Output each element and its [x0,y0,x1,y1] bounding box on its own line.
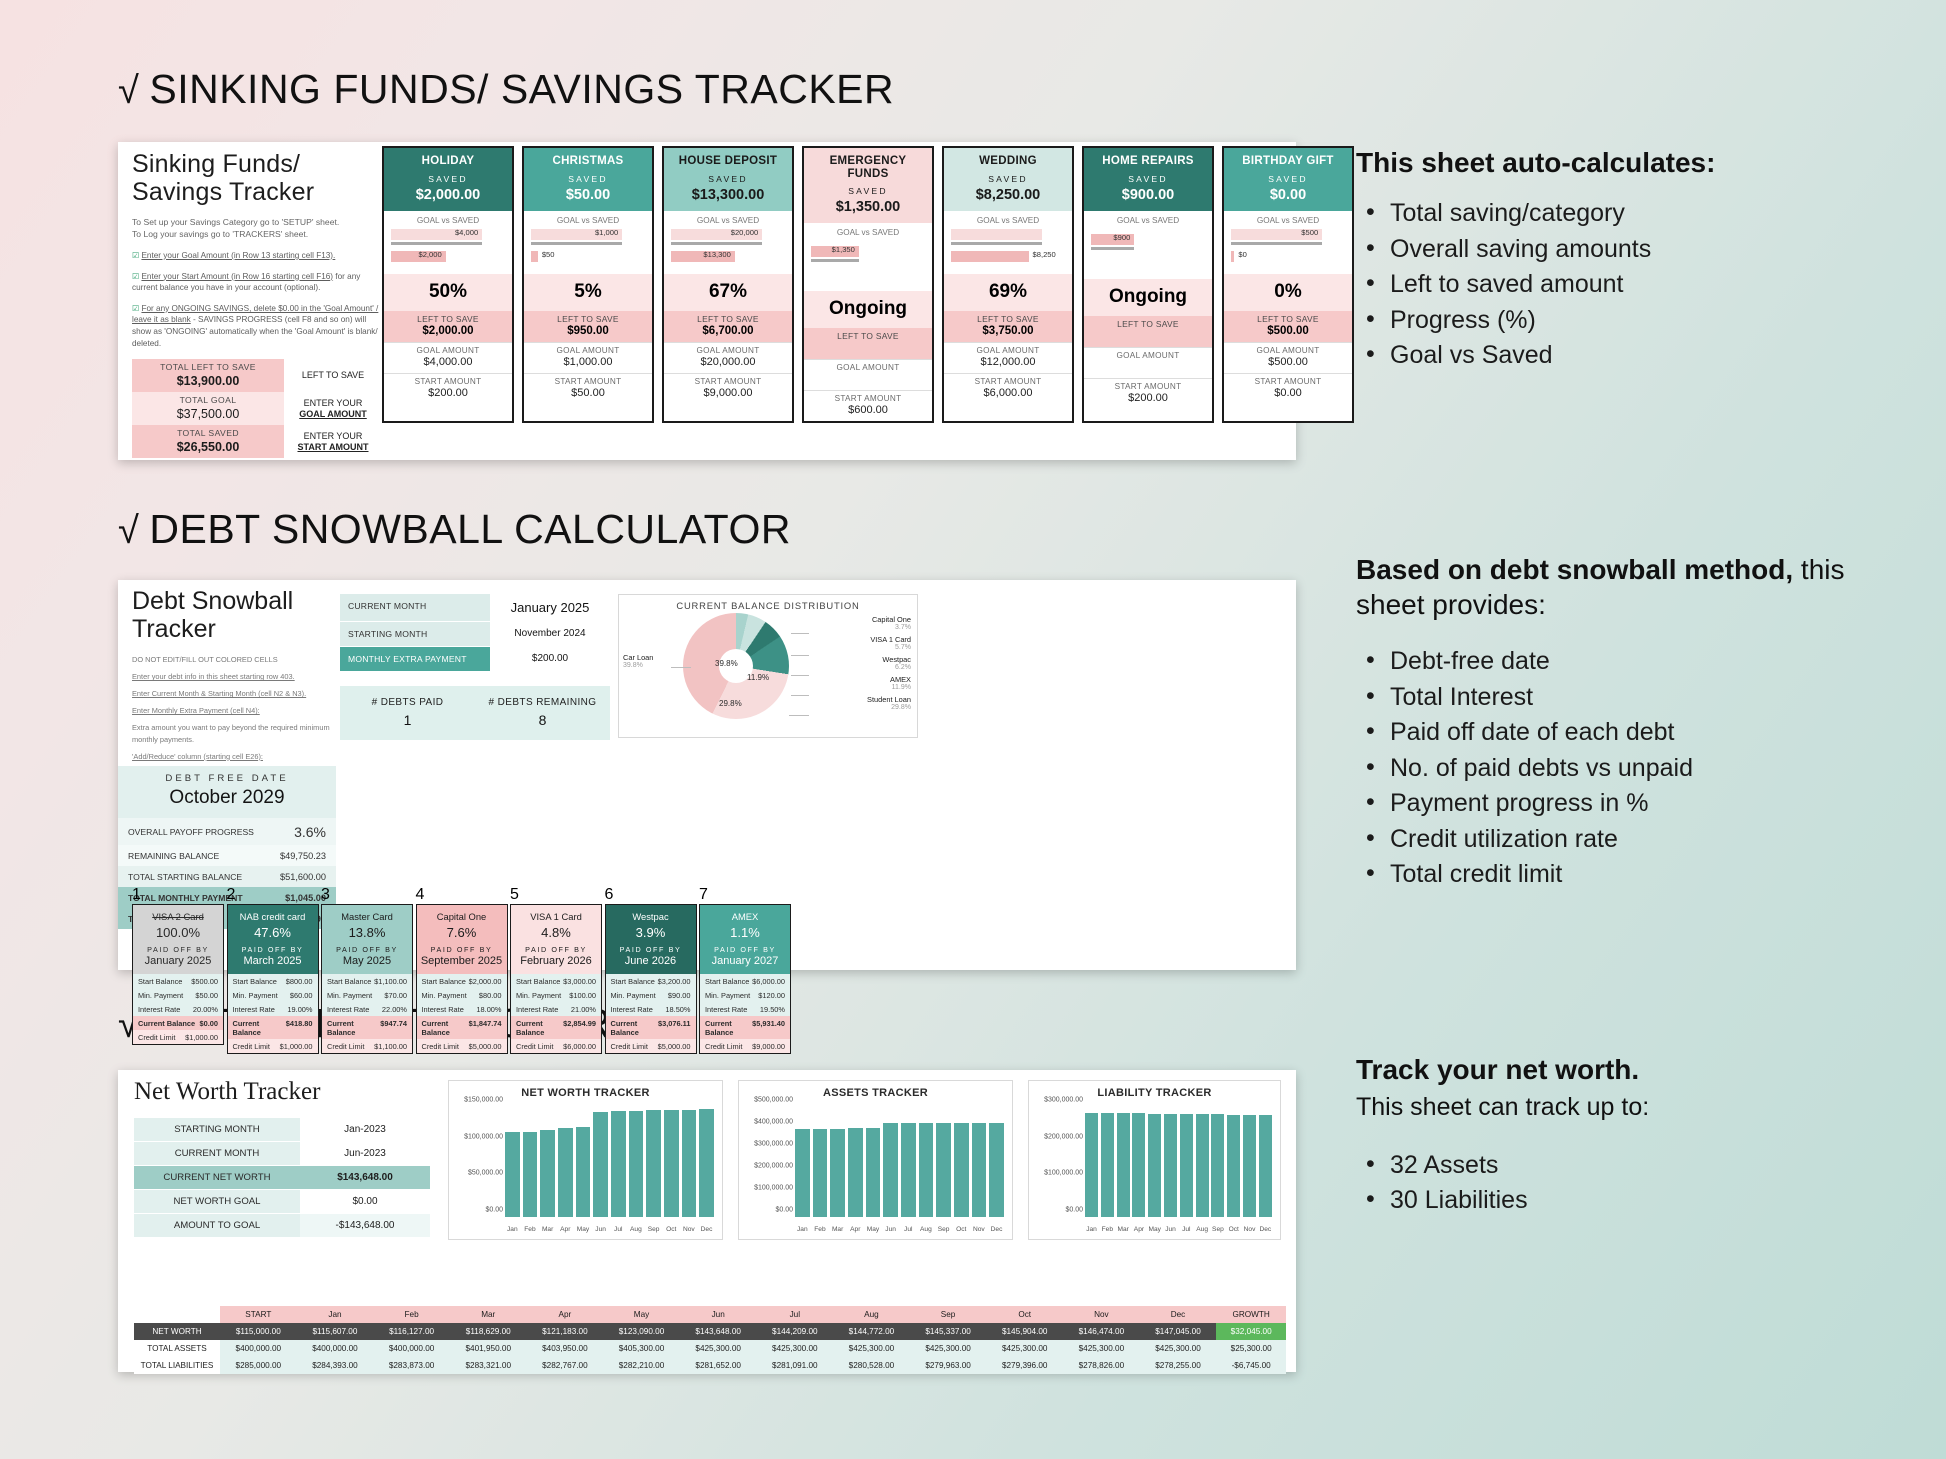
debt-setting-row: CURRENT MONTHJanuary 2025 [340,594,610,622]
debt-card-row: Current Balance$947.74 [322,1016,412,1039]
goal-amount-cell: GOAL AMOUNT$20,000.00 [664,342,792,373]
table-row-label: NET WORTH [134,1323,220,1340]
debt-card-row: Min. Payment$60.00 [228,988,318,1002]
paid-off-by-label: PAID OFF BY [325,945,409,954]
goal-vs-saved-bars: $1,350 [804,245,932,291]
sinking-card-name: HOUSE DEPOSIT [668,155,788,168]
section-title-debt-snowball: √DEBT SNOWBALL CALCULATOR [118,506,791,553]
net-worth-heading: Net Worth Tracker [134,1078,320,1106]
debt-snowball-copy: Based on debt snowball method, this shee… [1356,552,1876,893]
debt-note: Enter Monthly Extra Payment (cell N4): [132,705,337,716]
debt-note: DO NOT EDIT/FILL OUT COLORED CELLS [132,654,337,665]
axis-tick-label: $200,000.00 [1044,1133,1083,1140]
table-cell: $401,950.00 [450,1340,527,1357]
debt-free-date-value: October 2029 [118,787,336,809]
net-worth-sheet: Net Worth Tracker STARTING MONTHJan-2023… [118,1070,1296,1372]
sinking-total-cell: TOTAL LEFT TO SAVE$13,900.00 [132,359,284,392]
axis-tick-label: Jul [611,1226,626,1233]
savings-progress: Ongoing [1084,279,1212,316]
debt-card-row: Min. Payment$90.00 [606,988,696,1002]
table-cell: $281,091.00 [756,1357,833,1374]
debt-card-row: Current Balance$1,847.74 [417,1016,507,1039]
paid-off-date: September 2025 [420,955,504,967]
sinking-card-name: HOLIDAY [388,155,508,168]
debt-card[interactable]: AMEX1.1%PAID OFF BYJanuary 2027Start Bal… [699,904,791,1054]
sinking-total-hint: LEFT TO SAVE [284,359,382,392]
chart-bar [919,1123,934,1217]
axis-tick-label: Feb [1101,1226,1114,1233]
saved-bar: $13,300 [671,251,735,262]
goal-vs-saved-bars: $4,000$2,000 [384,228,512,274]
debt-card-row: Credit Limit$1,000.00 [133,1030,223,1044]
debt-card-wrapper: 4Capital One7.6%PAID OFF BYSeptember 202… [416,886,511,1054]
goal-vs-saved-label: GOAL vs SAVED [384,211,512,228]
table-cell: -$6,745.00 [1216,1357,1286,1374]
sinking-fund-card[interactable]: BIRTHDAY GIFTSAVED$0.00GOAL vs SAVED$500… [1222,146,1354,423]
saved-value: $50.00 [528,187,648,203]
debt-snowball-heading: Debt SnowballTracker [132,588,293,643]
debt-progress: 47.6% [231,925,315,940]
debt-setting-row: STARTING MONTHNovember 2024 [340,622,610,647]
pie-leader-line [671,667,691,668]
table-cell: $281,652.00 [680,1357,757,1374]
axis-tick-label: Apr [1132,1226,1145,1233]
axis-tick-label: Jan [795,1226,810,1233]
goal-bar-row: $500 [1231,228,1345,241]
sinking-card-name: EMERGENCY FUNDS [808,155,928,180]
copy-list-item: No. of paid debts vs unpaid [1356,751,1876,787]
saved-value: $2,000.00 [388,187,508,203]
sinking-fund-card[interactable]: HOUSE DEPOSITSAVED$13,300.00GOAL vs SAVE… [662,146,794,423]
debt-card-rows: Start Balance$6,000.00Min. Payment$120.0… [700,974,790,1053]
net-worth-summary-table: STARTING MONTHJan-2023CURRENT MONTHJun-2… [134,1118,430,1238]
debt-card[interactable]: Westpac3.9%PAID OFF BYJune 2026Start Bal… [605,904,697,1054]
paid-off-date: March 2025 [231,955,315,967]
debt-counters: # DEBTS PAID1# DEBTS REMAINING8 [340,686,610,740]
chart-bar [593,1112,608,1217]
table-cell: $283,873.00 [373,1357,450,1374]
start-amount-cell: START AMOUNT$0.00 [1224,373,1352,404]
debt-card-row: Current Balance$5,931.40 [700,1016,790,1039]
table-cell: $145,337.00 [910,1323,987,1340]
table-column-header: Jan [297,1306,374,1323]
table-cell: $400,000.00 [297,1340,374,1357]
axis-tick-label: $300,000.00 [1044,1097,1083,1104]
debt-settings-table: CURRENT MONTHJanuary 2025STARTING MONTHN… [340,594,610,740]
debt-card-row: Start Balance$800.00 [228,974,318,988]
saved-value: $900.00 [1088,187,1208,203]
debt-card-row: Interest Rate19.00% [228,1002,318,1016]
chart-bar [540,1130,555,1217]
saved-bar: $900 [1091,234,1134,245]
axis-tick-label: Feb [813,1226,828,1233]
net-worth-label: AMOUNT TO GOAL [134,1214,300,1237]
debt-note: Extra amount you want to pay beyond the … [132,722,337,744]
sinking-card-header: HOLIDAYSAVED$2,000.00 [384,148,512,211]
assets-chart-yaxis: $0.00$100,000.00$200,000.00$300,000.00$4… [741,1107,795,1217]
debt-setting-row: MONTHLY EXTRA PAYMENT$200.00 [340,647,610,672]
paid-off-by-label: PAID OFF BY [420,945,504,954]
chart-bar [576,1127,591,1217]
table-column-header: Apr [527,1306,604,1323]
debt-setting-label: STARTING MONTH [340,622,490,646]
axis-tick-label: Dec [1259,1226,1272,1233]
sinking-fund-card[interactable]: HOLIDAYSAVED$2,000.00GOAL vs SAVED$4,000… [382,146,514,423]
debt-card-row: Current Balance$3,076.11 [606,1016,696,1039]
bar-shadow [531,242,622,245]
saved-bar-row: $1,350 [811,245,925,258]
sinking-fund-card[interactable]: WEDDINGSAVED$8,250.00GOAL vs SAVED$8,250… [942,146,1074,423]
table-column-header: Dec [1140,1306,1217,1323]
sinking-funds-copy: This sheet auto-calculates: Total saving… [1356,145,1876,374]
sinking-card-name: HOME REPAIRS [1088,155,1208,168]
net-worth-summary-row: CURRENT MONTHJun-2023 [134,1142,430,1166]
sinking-total-hint: ENTER YOURSTART AMOUNT [284,425,382,458]
table-column-header: Jun [680,1306,757,1323]
debt-card-rows: Start Balance$3,000.00Min. Payment$100.0… [511,974,601,1053]
chart-bar [1117,1113,1130,1217]
debt-card-row: Interest Rate20.00% [133,1002,223,1016]
debt-summary-row: TOTAL STARTING BALANCE$51,600.00 [118,866,336,887]
debt-card-rows: Start Balance$500.00Min. Payment$50.00In… [133,974,223,1044]
paid-off-date: January 2025 [136,955,220,967]
paid-off-by-label: PAID OFF BY [136,945,220,954]
table-cell: $32,045.00 [1216,1323,1286,1340]
saved-bar-row: $0 [1231,250,1345,263]
chart-bar [1211,1114,1224,1217]
goal-bar: $20,000 [671,229,762,240]
debt-progress: 13.8% [325,925,409,940]
saved-value: $8,250.00 [948,187,1068,203]
goal-amount-cell: GOAL AMOUNT- [1084,347,1212,378]
axis-tick-label: Feb [523,1226,538,1233]
axis-tick-label: Nov [972,1226,987,1233]
sinking-card-name: WEDDING [948,155,1068,168]
table-column-header: Aug [833,1306,910,1323]
table-cell: $425,300.00 [910,1340,987,1357]
pie-legend-item: Capital One3.7% [872,615,911,631]
chart-bar [795,1129,810,1217]
pie-legend-item: VISA 1 Card5.7% [870,635,911,651]
net-worth-chart-bars [505,1107,714,1217]
goal-bar-row: $20,000 [671,228,785,241]
savings-progress: 67% [664,274,792,311]
net-worth-value[interactable]: Jun-2023 [300,1142,430,1165]
chart-bar [848,1128,863,1217]
net-worth-summary-row: AMOUNT TO GOAL-$143,648.00 [134,1214,430,1238]
table-cell: $116,127.00 [373,1323,450,1340]
net-worth-copy-list: 32 Assets30 Liabilities [1356,1148,1876,1219]
axis-tick-label: Jun [593,1226,608,1233]
debt-note: 'Add/Reduce' column (starting cell E26): [132,751,337,762]
pie-slice-value: 39.8% [715,659,738,668]
table-cell: $425,300.00 [833,1340,910,1357]
debt-name: NAB credit card [231,911,315,922]
debt-setting-value[interactable]: January 2025 [490,594,610,621]
axis-tick-label: May [1148,1226,1161,1233]
debt-card-index: 3 [321,886,416,904]
table-row-label: TOTAL ASSETS [134,1340,220,1357]
saved-label: SAVED [388,174,508,184]
left-to-save-cell: LEFT TO SAVE- [1084,316,1212,347]
debt-card-rows: Start Balance$800.00Min. Payment$60.00In… [228,974,318,1053]
net-worth-value[interactable]: $0.00 [300,1190,430,1213]
bar-shadow [811,259,859,262]
saved-bar: $50 [531,251,538,262]
section-title-sinking-funds: √SINKING FUNDS/ SAVINGS TRACKER [118,66,894,113]
axis-tick-label: Aug [919,1226,934,1233]
axis-tick-label: Aug [1196,1226,1209,1233]
assets-chart-bars [795,1107,1004,1217]
check-icon: √ [118,70,139,112]
debt-progress: 4.8% [514,925,598,940]
debt-name: Capital One [420,911,504,922]
copy-list-item: Progress (%) [1356,303,1876,339]
checkbox-icon: ☑ [132,251,139,260]
start-amount-cell: START AMOUNT$50.00 [524,373,652,404]
saved-bar-row: $900 [1091,233,1205,246]
debt-progress: 7.6% [420,925,504,940]
axis-tick-label: Aug [629,1226,644,1233]
axis-tick-label: Oct [954,1226,969,1233]
chart-bar [611,1111,626,1217]
debt-card-row: 1VISA 2 Card100.0%PAID OFF BYJanuary 202… [132,886,794,1054]
table-cell: $284,393.00 [297,1357,374,1374]
table-cell: $425,300.00 [1140,1340,1217,1357]
goal-bar: $500 [1231,229,1322,240]
debt-copy-list: Debt-free dateTotal InterestPaid off dat… [1356,644,1876,893]
debt-snowball-sheet: Debt SnowballTracker DO NOT EDIT/FILL OU… [118,580,1296,970]
sinking-funds-card-row: HOLIDAYSAVED$2,000.00GOAL vs SAVED$4,000… [382,146,1354,423]
pie-chart-area: Capital One3.7%VISA 1 Card5.7%Westpac6.2… [619,611,917,723]
debt-setting-label: CURRENT MONTH [340,594,490,621]
net-worth-copy-sub: This sheet can track up to: [1356,1091,1876,1124]
pie-slice-value: 29.8% [719,699,742,708]
net-worth-value[interactable]: -$143,648.00 [300,1214,430,1237]
liability-chart-yaxis: $0.00$100,000.00$200,000.00$300,000.00 [1031,1107,1085,1217]
axis-tick-label: $0.00 [775,1207,793,1214]
liability-chart: LIABILITY TRACKER $0.00$100,000.00$200,0… [1028,1080,1281,1240]
chart-bar [629,1111,644,1217]
table-cell: $144,209.00 [756,1323,833,1340]
sinking-fund-card[interactable]: CHRISTMASSAVED$50.00GOAL vs SAVED$1,000$… [522,146,654,423]
axis-tick-label: Jan [505,1226,520,1233]
goal-amount-cell: GOAL AMOUNT$4,000.00 [384,342,512,373]
table-header-row: STARTJanFebMarAprMayJunJulAugSepOctNovDe… [134,1306,1286,1323]
sinking-funds-copy-heading: This sheet auto-calculates: [1356,145,1876,180]
table-cell: $425,300.00 [680,1340,757,1357]
debt-card-row: Min. Payment$50.00 [133,988,223,1002]
debt-card-header: Westpac3.9%PAID OFF BYJune 2026 [606,905,696,974]
paid-off-date: January 2027 [703,955,787,967]
checkbox-icon: ☑ [132,304,139,313]
paid-off-by-label: PAID OFF BY [609,945,693,954]
copy-list-item: Overall saving amounts [1356,232,1876,268]
saved-label: SAVED [1088,174,1208,184]
net-worth-summary-row: CURRENT NET WORTH$143,648.00 [134,1166,430,1190]
copy-list-item: 32 Assets [1356,1148,1876,1184]
debt-card[interactable]: VISA 1 Card4.8%PAID OFF BYFebruary 2026S… [510,904,602,1054]
debt-name: VISA 2 Card [136,911,220,922]
debt-card-index: 2 [227,886,322,904]
table-cell: $403,950.00 [527,1340,604,1357]
axis-tick-label: $200,000.00 [754,1163,793,1170]
copy-list-item: Total Interest [1356,680,1876,716]
net-worth-data-table: STARTJanFebMarAprMayJunJulAugSepOctNovDe… [134,1306,1286,1374]
table-column-header: Feb [373,1306,450,1323]
debt-card-rows: Start Balance$2,000.00Min. Payment$80.00… [417,974,507,1053]
debt-card-row: Credit Limit$1,100.00 [322,1039,412,1053]
debt-summary-row: OVERALL PAYOFF PROGRESS3.6% [118,818,336,845]
saved-bar-row: $8,250 [951,250,1065,263]
debt-card-row: Min. Payment$70.00 [322,988,412,1002]
copy-list-item: Left to saved amount [1356,267,1876,303]
sinking-card-header: HOME REPAIRSSAVED$900.00 [1084,148,1212,211]
table-cell: $278,255.00 [1140,1357,1217,1374]
table-row: TOTAL ASSETS$400,000.00$400,000.00$400,0… [134,1340,1286,1357]
pie-chart-title: CURRENT BALANCE DISTRIBUTION [619,595,917,611]
debt-card-row: Credit Limit$5,000.00 [417,1039,507,1053]
table-cell: $147,045.00 [1140,1323,1217,1340]
net-worth-label: CURRENT NET WORTH [134,1166,300,1189]
table-cell: $400,000.00 [373,1340,450,1357]
table-cell: $123,090.00 [603,1323,680,1340]
debt-card-row: Start Balance$6,000.00 [700,974,790,988]
copy-list-item: Credit utilization rate [1356,822,1876,858]
table-cell: $278,826.00 [1063,1357,1140,1374]
net-worth-value[interactable]: $143,648.00 [300,1166,430,1189]
chart-bar [954,1123,969,1217]
axis-tick-label: $0.00 [1065,1207,1083,1214]
net-worth-value[interactable]: Jan-2023 [300,1118,430,1141]
net-worth-summary-row: STARTING MONTHJan-2023 [134,1118,430,1142]
goal-vs-saved-label: GOAL vs SAVED [524,211,652,228]
start-amount-cell: START AMOUNT$9,000.00 [664,373,792,404]
axis-tick-label: Nov [682,1226,697,1233]
pie-leader-line [791,655,809,656]
axis-tick-label: Mar [540,1226,555,1233]
assets-chart-xaxis: JanFebMarAprMayJunJulAugSepOctNovDec [795,1226,1004,1233]
debt-setting-label: MONTHLY EXTRA PAYMENT [340,647,490,671]
table-cell: $425,300.00 [756,1340,833,1357]
table-cell: $282,210.00 [603,1357,680,1374]
goal-bar: $4,000 [391,229,482,240]
sinking-fund-card[interactable]: HOME REPAIRSSAVED$900.00GOAL vs SAVED$90… [1082,146,1214,423]
assets-chart: ASSETS TRACKER $0.00$100,000.00$200,000.… [738,1080,1013,1240]
pie-legend-item: Student Loan29.8% [867,695,911,711]
chart-bar [505,1132,520,1217]
chart-bar [558,1128,573,1217]
debt-card[interactable]: Capital One7.6%PAID OFF BYSeptember 2025… [416,904,508,1054]
chart-bar [664,1110,679,1217]
net-worth-label: CURRENT MONTH [134,1142,300,1165]
net-worth-chart: NET WORTH TRACKER $0.00$50,000.00$100,00… [448,1080,723,1240]
debt-note: Enter Current Month & Starting Month (ce… [132,688,337,699]
debt-note: Enter your debt info in this sheet start… [132,671,337,682]
saved-value: $0.00 [1228,187,1348,203]
debt-card-row: Current Balance$2,854.99 [511,1016,601,1039]
bar-shadow [1231,242,1322,245]
saved-bar: $0 [1231,251,1234,262]
debt-counter: # DEBTS PAID1 [340,686,475,740]
goal-bar [951,229,1042,240]
debt-card-header: VISA 1 Card4.8%PAID OFF BYFebruary 2026 [511,905,601,974]
axis-tick-label: Jul [901,1226,916,1233]
goal-vs-saved-bars: $1,000$50 [524,228,652,274]
chart-bar [1085,1113,1098,1217]
sinking-total-cell: TOTAL SAVED$26,550.00 [132,425,284,458]
goal-vs-saved-label: GOAL vs SAVED [804,223,932,240]
saved-label: SAVED [1228,174,1348,184]
paid-off-by-label: PAID OFF BY [514,945,598,954]
axis-tick-label: Dec [989,1226,1004,1233]
copy-list-item: Debt-free date [1356,644,1876,680]
sinking-card-header: HOUSE DEPOSITSAVED$13,300.00 [664,148,792,211]
copy-list-item: 30 Liabilities [1356,1183,1876,1219]
sinking-funds-note-2: ☑ Enter your Start Amount (in Row 16 sta… [132,271,382,294]
debt-setting-value[interactable]: $200.00 [490,647,610,671]
chart-bar [989,1123,1004,1217]
debt-card-header: VISA 2 Card100.0%PAID OFF BYJanuary 2025 [133,905,223,974]
goal-vs-saved-label: GOAL vs SAVED [1084,211,1212,228]
sinking-total-row: TOTAL SAVED$26,550.00ENTER YOURSTART AMO… [132,425,382,458]
goal-vs-saved-bars: $500$0 [1224,228,1352,274]
table-cell: $115,000.00 [220,1323,297,1340]
debt-card[interactable]: Master Card13.8%PAID OFF BYMay 2025Start… [321,904,413,1054]
debt-card[interactable]: NAB credit card47.6%PAID OFF BYMarch 202… [227,904,319,1054]
table-cell: $279,396.00 [986,1357,1063,1374]
debt-setting-value[interactable]: November 2024 [490,622,610,646]
liability-chart-xaxis: JanFebMarAprMayJunJulAugSepOctNovDec [1085,1226,1272,1233]
sinking-card-name: CHRISTMAS [528,155,648,168]
savings-progress: Ongoing [804,291,932,328]
left-to-save-cell: LEFT TO SAVE$2,000.00 [384,311,512,342]
debt-card-row: Start Balance$500.00 [133,974,223,988]
chart-bar [1148,1114,1161,1217]
axis-tick-label: Jan [1085,1226,1098,1233]
debt-card-row: Interest Rate22.00% [322,1002,412,1016]
debt-card-header: Capital One7.6%PAID OFF BYSeptember 2025 [417,905,507,974]
debt-card-row: Interest Rate18.00% [417,1002,507,1016]
bar-shadow [391,242,482,245]
sinking-funds-note-1: ☑ Enter your Goal Amount (in Row 13 star… [132,250,382,262]
sinking-funds-copy-list: Total saving/categoryOverall saving amou… [1356,196,1876,374]
debt-card-row: Start Balance$2,000.00 [417,974,507,988]
debt-card[interactable]: VISA 2 Card100.0%PAID OFF BYJanuary 2025… [132,904,224,1045]
chart-bar [646,1110,661,1217]
table-corner [134,1306,220,1323]
copy-list-item: Payment progress in % [1356,786,1876,822]
left-to-save-cell: LEFT TO SAVE$6,700.00 [664,311,792,342]
copy-list-item: Paid off date of each debt [1356,715,1876,751]
copy-list-item: Goal vs Saved [1356,338,1876,374]
sinking-fund-card[interactable]: EMERGENCY FUNDSSAVED$1,350.00GOAL vs SAV… [802,146,934,423]
debt-card-rows: Start Balance$1,100.00Min. Payment$70.00… [322,974,412,1053]
left-to-save-cell: LEFT TO SAVE- [804,328,932,359]
table-row: NET WORTH$115,000.00$115,607.00$116,127.… [134,1323,1286,1340]
goal-amount-cell: GOAL AMOUNT$500.00 [1224,342,1352,373]
sinking-funds-sheet: Sinking Funds/Savings Tracker To Set up … [118,142,1296,460]
debt-card-wrapper: 1VISA 2 Card100.0%PAID OFF BYJanuary 202… [132,886,227,1054]
axis-tick-label: Mar [1117,1226,1130,1233]
goal-vs-saved-bars: $8,250 [944,228,1072,274]
axis-tick-label: Sep [1211,1226,1224,1233]
table-cell: $25,300.00 [1216,1340,1286,1357]
pie-leader-line [791,695,809,696]
table-cell: $280,528.00 [833,1357,910,1374]
axis-tick-label: $0.00 [485,1207,503,1214]
debt-card-row: Min. Payment$80.00 [417,988,507,1002]
